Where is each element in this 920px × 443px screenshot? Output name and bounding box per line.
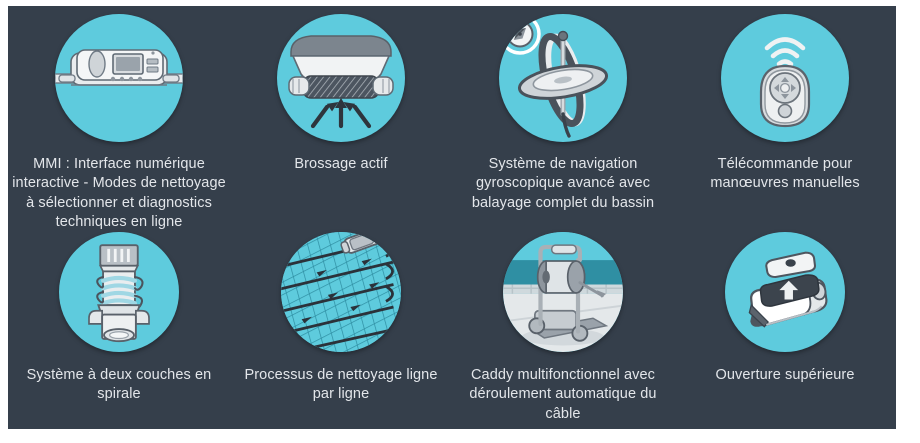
top-access-robot-icon xyxy=(725,232,845,352)
feature-caption: Télécommande pour manœuvres manuelles xyxy=(678,155,893,194)
signal-waves-icon xyxy=(767,40,803,65)
feature-caption: Brossage actif xyxy=(234,155,449,174)
feature-grid: MMI : Interface numérique interactive - … xyxy=(8,6,896,429)
feature-caption: Ouverture supérieure xyxy=(678,366,893,385)
feature-item-brushing[interactable]: Brossage actif xyxy=(230,14,452,174)
feature-item-spiral-filter[interactable]: Système à deux couches en spirale xyxy=(8,232,230,405)
spiral-filter-icon xyxy=(59,232,179,352)
control-panel-icon xyxy=(55,14,183,142)
gyroscope-navigation-icon xyxy=(499,14,627,142)
feature-caption: MMI : Interface numérique interactive - … xyxy=(12,155,227,232)
feature-row-top: MMI : Interface numérique interactive - … xyxy=(8,14,896,232)
feature-item-caddy[interactable]: Caddy multifonctionnel avec déroulement … xyxy=(452,232,674,424)
active-brushing-icon xyxy=(277,14,405,142)
feature-row-bottom: Système à deux couches en spirale xyxy=(8,232,896,424)
feature-item-remote[interactable]: Télécommande pour manœuvres manuelles xyxy=(674,14,896,194)
feature-item-line-cleaning[interactable]: Processus de nettoyage ligne par ligne xyxy=(230,232,452,405)
feature-caption: Processus de nettoyage ligne par ligne xyxy=(234,366,449,405)
feature-item-top-access[interactable]: Ouverture supérieure xyxy=(674,232,896,385)
line-by-line-cleaning-icon xyxy=(281,232,401,352)
remote-control-icon xyxy=(721,14,849,142)
feature-item-gyroscope[interactable]: Système de navigation gyroscopique avanc… xyxy=(452,14,674,213)
compass-badge-icon xyxy=(501,15,539,53)
feature-caption: Caddy multifonctionnel avec déroulement … xyxy=(456,366,671,424)
feature-caption: Système de navigation gyroscopique avanc… xyxy=(456,155,671,213)
feature-panel: MMI : Interface numérique interactive - … xyxy=(8,6,896,429)
feature-caption: Système à deux couches en spirale xyxy=(12,366,227,405)
caddy-cart-icon xyxy=(503,232,623,352)
feature-item-mmi[interactable]: MMI : Interface numérique interactive - … xyxy=(8,14,230,232)
